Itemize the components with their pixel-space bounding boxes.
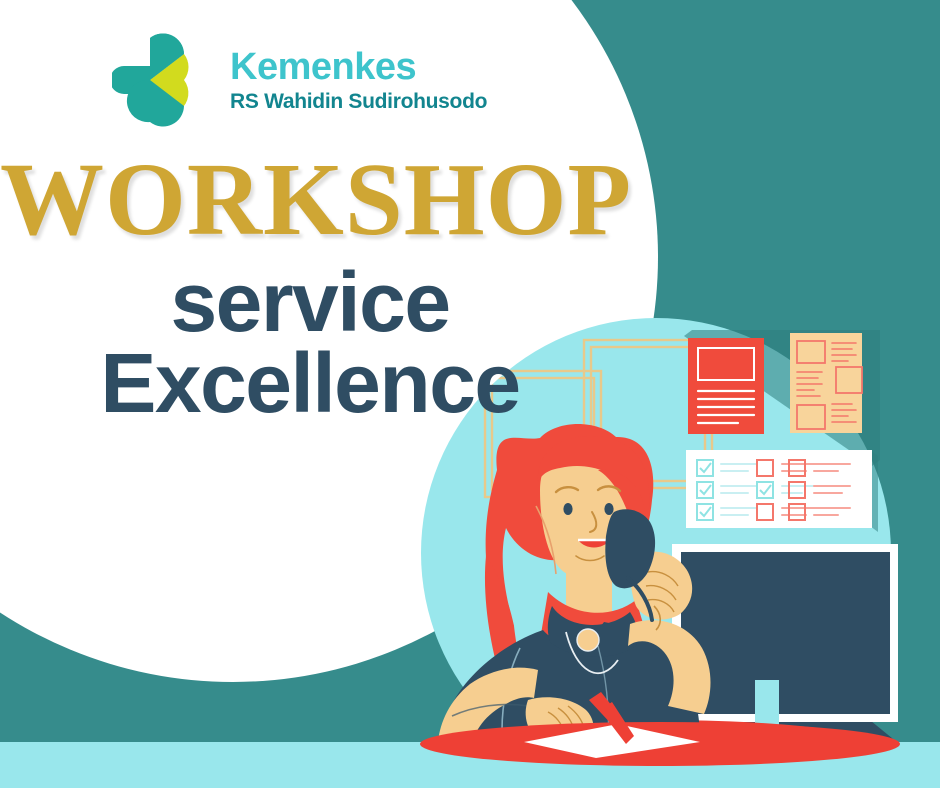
eye-left — [563, 503, 572, 515]
kemenkes-logo: Kemenkes RS Wahidin Sudirohusodo — [112, 28, 487, 132]
tan-poster — [790, 333, 862, 433]
logo-title: Kemenkes — [230, 48, 487, 86]
headline-line-excellence: Excellence — [0, 343, 620, 424]
monitor-screen — [681, 552, 890, 714]
logo-subtitle: RS Wahidin Sudirohusodo — [230, 91, 487, 112]
headline-workshop: WORKSHOP — [0, 148, 620, 252]
eye-right — [604, 503, 613, 515]
red-poster — [688, 338, 764, 434]
headline-block: WORKSHOP service Excellence — [0, 148, 620, 425]
poster-canvas: Kemenkes RS Wahidin Sudirohusodo WORKSHO… — [0, 0, 940, 788]
computer-monitor — [672, 544, 898, 743]
necklace-pendant — [577, 629, 599, 651]
headline-line-service: service — [0, 262, 620, 343]
kemenkes-flower-logo-icon — [112, 28, 216, 132]
logo-text-block: Kemenkes RS Wahidin Sudirohusodo — [230, 48, 487, 112]
headline-subtitle: service Excellence — [0, 262, 620, 425]
checklist-card — [686, 450, 878, 532]
